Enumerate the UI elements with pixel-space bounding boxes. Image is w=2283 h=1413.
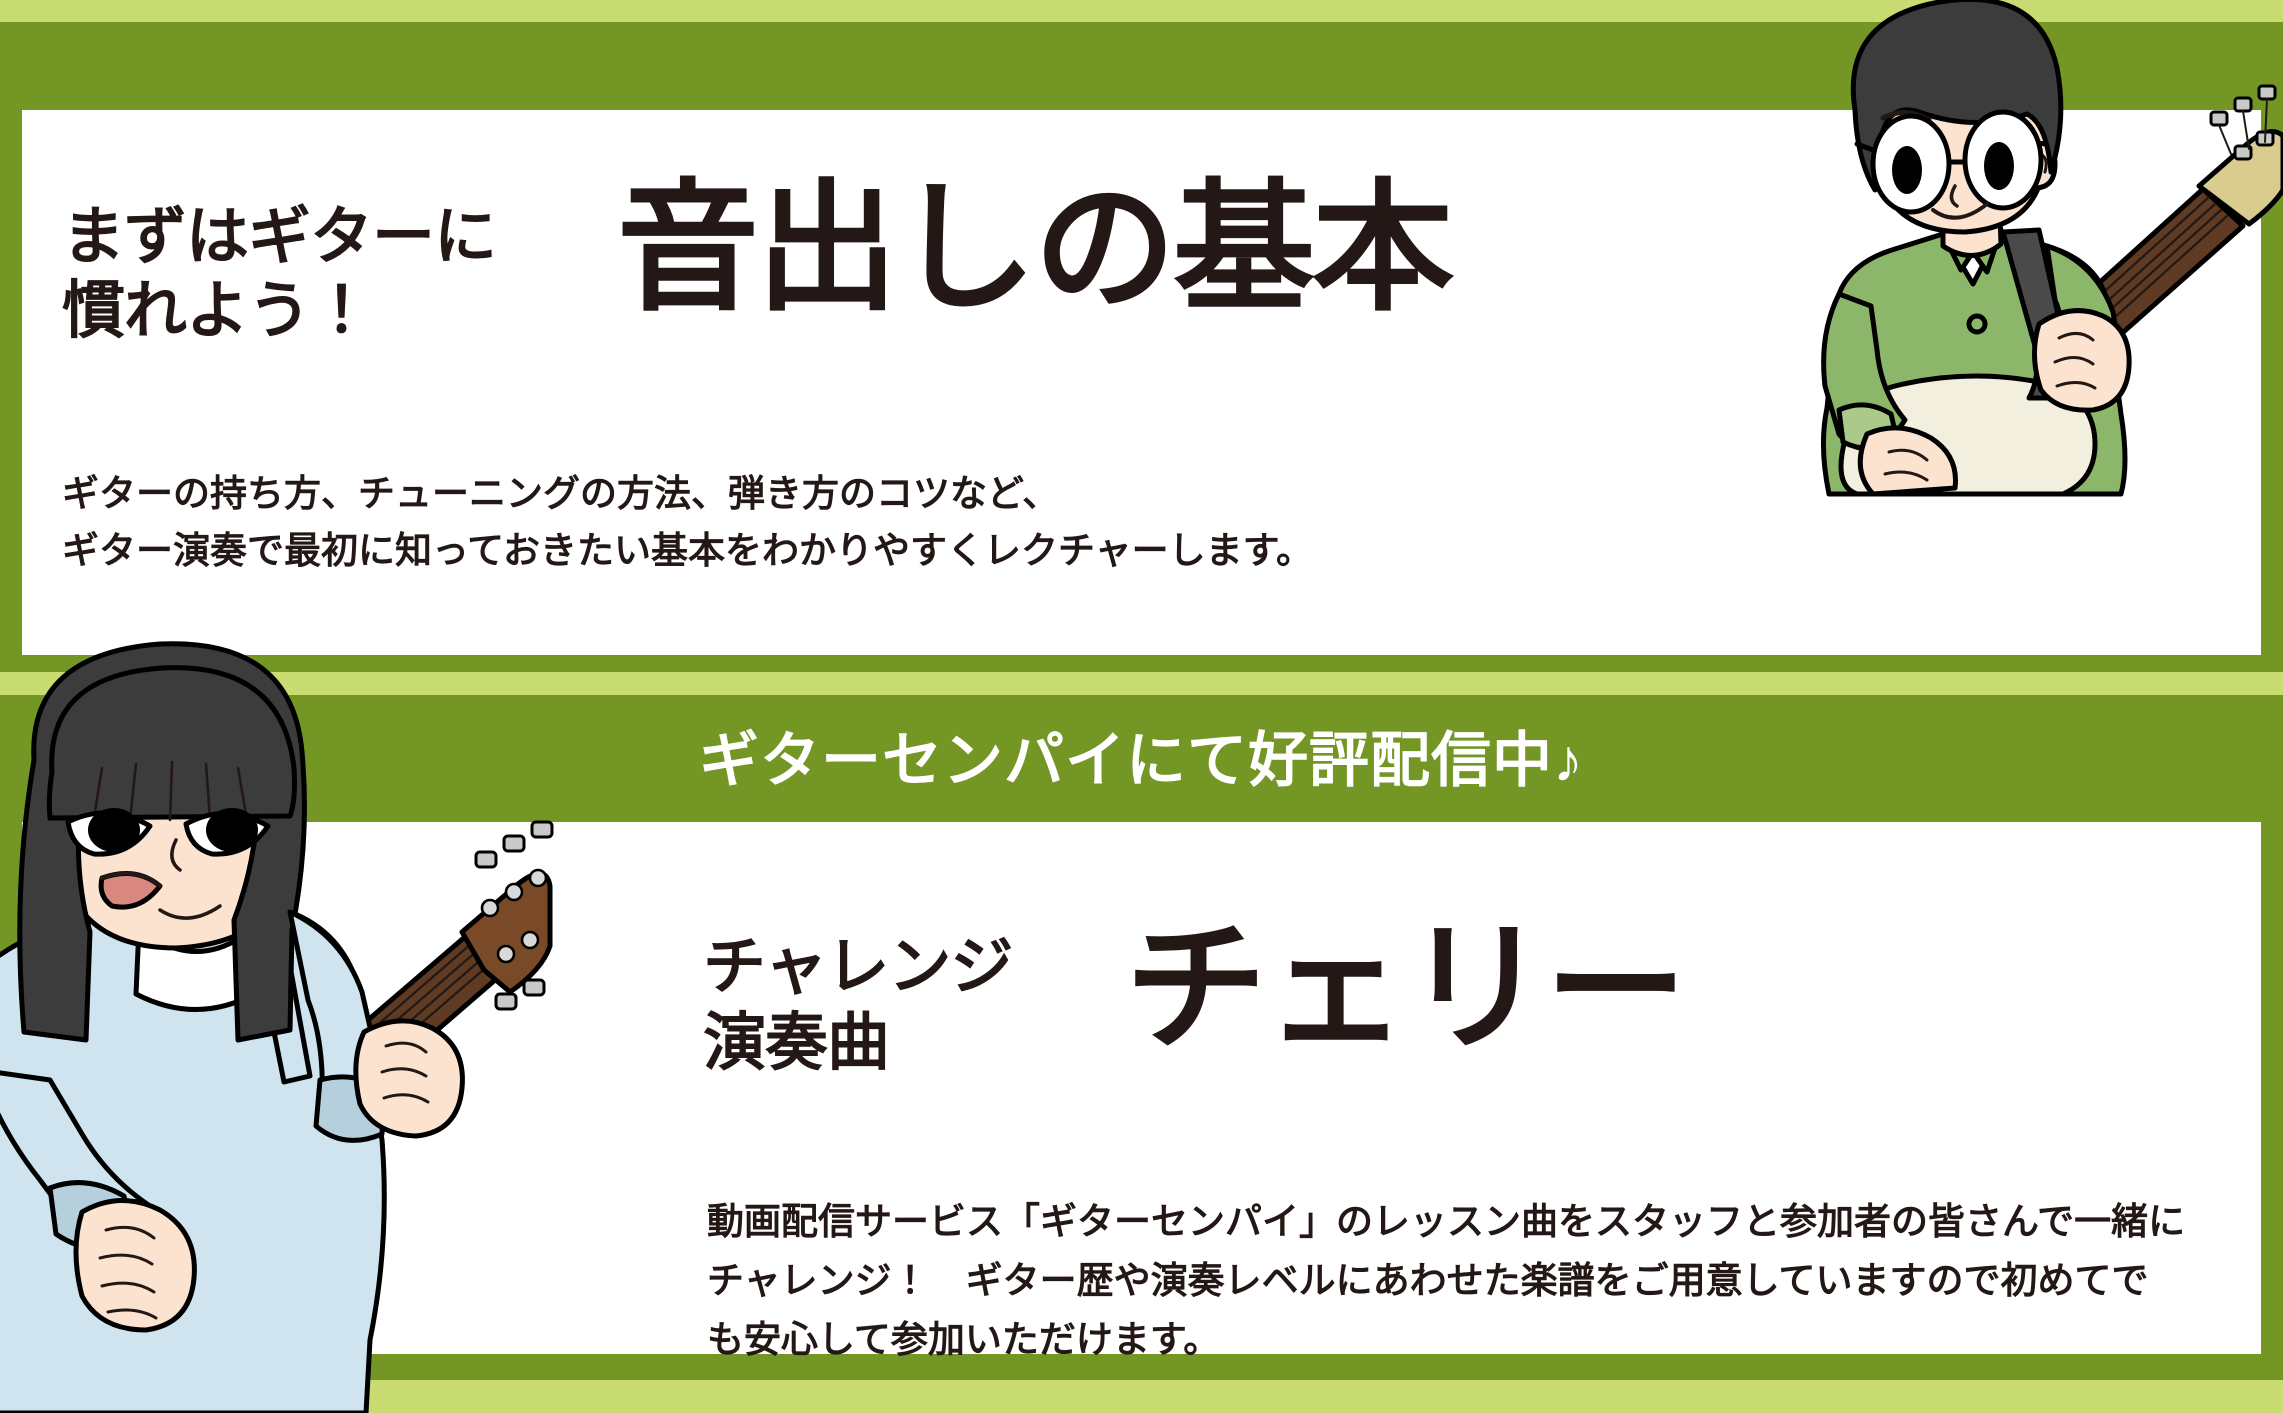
boy-eye-left xyxy=(1892,146,1922,194)
section1-title: 音出しの基本 xyxy=(617,178,1451,320)
section1-description: ギターの持ち方、チューニングの方法、弾き方のコツなど、 ギター演奏で最初に知って… xyxy=(62,465,1313,580)
boy-with-electric-guitar-illustration xyxy=(1643,0,2283,494)
girl-fretting-hand xyxy=(356,1021,463,1136)
section2-description: 動画配信サービス「ギターセンパイ」のレッスン曲をスタッフと参加者の皆さんで一緒に… xyxy=(707,1192,2185,1370)
girl-with-acoustic-guitar-illustration xyxy=(0,640,550,1413)
section2-kicker: チャレンジ 演奏曲 xyxy=(703,930,1012,1081)
boy-eye-right xyxy=(1984,142,2014,190)
promo-poster: まずはギターに 慣れよう！ 音出しの基本 ギターの持ち方、チューニングの方法、弾… xyxy=(0,0,2283,1413)
boy-fretting-hand xyxy=(2034,311,2129,411)
section2-title: チェリー xyxy=(1125,918,1685,1060)
section1-kicker: まずはギターに 慣れよう！ xyxy=(62,200,496,349)
